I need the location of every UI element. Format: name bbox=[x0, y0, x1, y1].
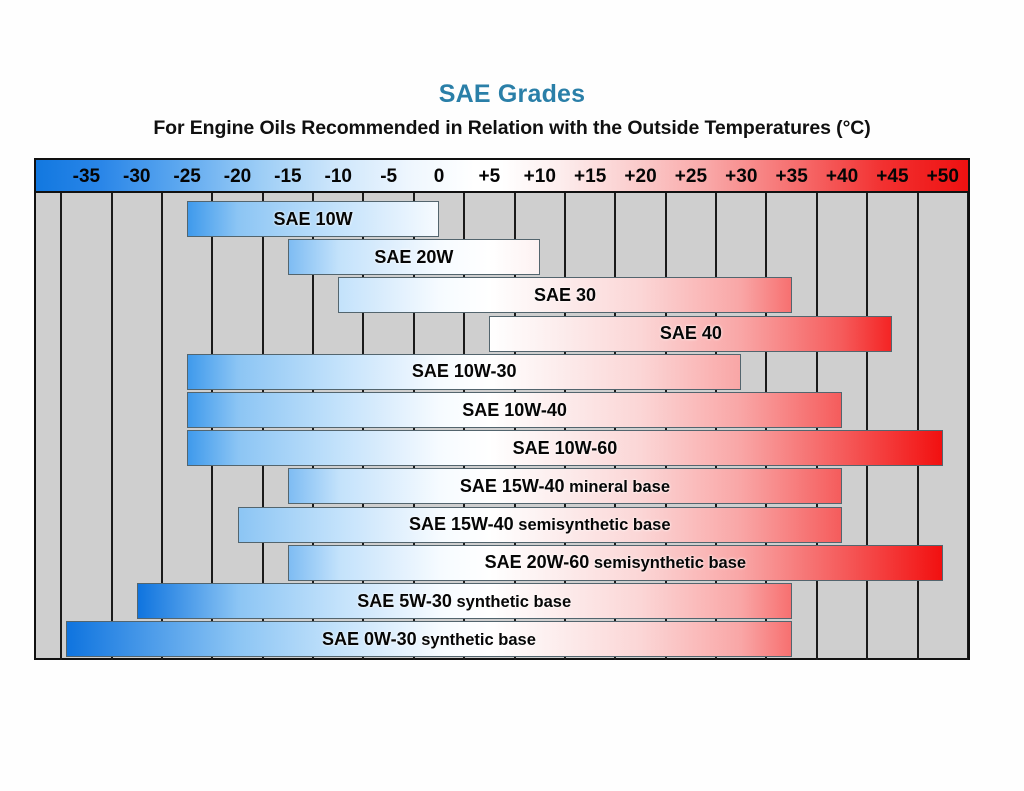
temperature-tick-plus15: +15 bbox=[574, 160, 606, 193]
bar-sublabel: semisynthetic base bbox=[589, 554, 746, 572]
bar-label: SAE 10W-40 bbox=[456, 400, 573, 421]
bar-label: SAE 20W bbox=[368, 247, 459, 268]
bar-label: SAE 20W-60 semisynthetic base bbox=[479, 552, 753, 573]
bar-sae-20w-60: SAE 20W-60 semisynthetic base bbox=[288, 545, 943, 581]
temperature-scale-header: -35-30-25-20-15-10-50+5+10+15+20+25+30+3… bbox=[36, 160, 968, 193]
bar-label: SAE 0W-30 synthetic base bbox=[316, 629, 542, 650]
bar-label: SAE 15W-40 mineral base bbox=[454, 476, 676, 497]
temperature-tick-minus10: -10 bbox=[325, 160, 352, 193]
temperature-tick-plus45: +45 bbox=[876, 160, 908, 193]
page-title: SAE Grades bbox=[0, 80, 1024, 109]
temperature-tick-plus40: +40 bbox=[826, 160, 858, 193]
temperature-tick-plus35: +35 bbox=[776, 160, 808, 193]
temperature-tick-minus20: -20 bbox=[224, 160, 251, 193]
bar-sublabel: semisynthetic base bbox=[514, 516, 671, 534]
bar-label: SAE 5W-30 synthetic base bbox=[351, 591, 577, 612]
bar-sae-5w-30: SAE 5W-30 synthetic base bbox=[137, 583, 792, 619]
gridline bbox=[60, 193, 62, 660]
bar-sae-30: SAE 30 bbox=[338, 277, 791, 313]
bar-sae-0w-30: SAE 0W-30 synthetic base bbox=[66, 621, 791, 657]
temperature-tick-minus5: -5 bbox=[380, 160, 397, 193]
gridline bbox=[917, 193, 919, 660]
temperature-tick-minus15: -15 bbox=[274, 160, 301, 193]
bar-sae-20w: SAE 20W bbox=[288, 239, 540, 275]
bar-label: SAE 10W-30 bbox=[406, 361, 523, 382]
chart-container: -35-30-25-20-15-10-50+5+10+15+20+25+30+3… bbox=[34, 158, 970, 660]
sae-grades-chart-page: SAE Grades For Engine Oils Recommended i… bbox=[0, 0, 1024, 791]
temperature-tick-minus25: -25 bbox=[173, 160, 200, 193]
chart-plot-area: SAE 10WSAE 20WSAE 30SAE 40SAE 10W-30SAE … bbox=[36, 193, 968, 660]
temperature-tick-0: 0 bbox=[434, 160, 445, 193]
temperature-tick-plus30: +30 bbox=[725, 160, 757, 193]
bar-sublabel: mineral base bbox=[565, 478, 670, 496]
gridline bbox=[111, 193, 113, 660]
bar-sae-10w-60: SAE 10W-60 bbox=[187, 430, 943, 466]
bar-sae-10w-30: SAE 10W-30 bbox=[187, 354, 741, 390]
temperature-tick-plus50: +50 bbox=[927, 160, 959, 193]
bar-label: SAE 30 bbox=[528, 285, 602, 306]
gridline bbox=[866, 193, 868, 660]
temperature-tick-plus10: +10 bbox=[524, 160, 556, 193]
temperature-tick-plus5: +5 bbox=[479, 160, 501, 193]
page-subtitle: For Engine Oils Recommended in Relation … bbox=[0, 117, 1024, 140]
gridline bbox=[967, 193, 968, 660]
bar-sae-15w-40: SAE 15W-40 mineral base bbox=[288, 468, 842, 504]
bar-sublabel: synthetic base bbox=[452, 593, 571, 611]
temperature-tick-minus35: -35 bbox=[73, 160, 100, 193]
bar-label: SAE 10W bbox=[268, 209, 359, 230]
bar-label: SAE 10W-60 bbox=[507, 438, 624, 459]
bar-sae-10w-40: SAE 10W-40 bbox=[187, 392, 842, 428]
temperature-tick-plus20: +20 bbox=[624, 160, 656, 193]
bar-sublabel: synthetic base bbox=[417, 631, 536, 649]
bar-label: SAE 40 bbox=[654, 323, 728, 344]
temperature-tick-plus25: +25 bbox=[675, 160, 707, 193]
temperature-tick-minus30: -30 bbox=[123, 160, 150, 193]
bar-label: SAE 15W-40 semisynthetic base bbox=[403, 514, 677, 535]
bar-sae-40: SAE 40 bbox=[489, 316, 892, 352]
bar-sae-15w-40: SAE 15W-40 semisynthetic base bbox=[238, 507, 843, 543]
bar-sae-10w: SAE 10W bbox=[187, 201, 439, 237]
